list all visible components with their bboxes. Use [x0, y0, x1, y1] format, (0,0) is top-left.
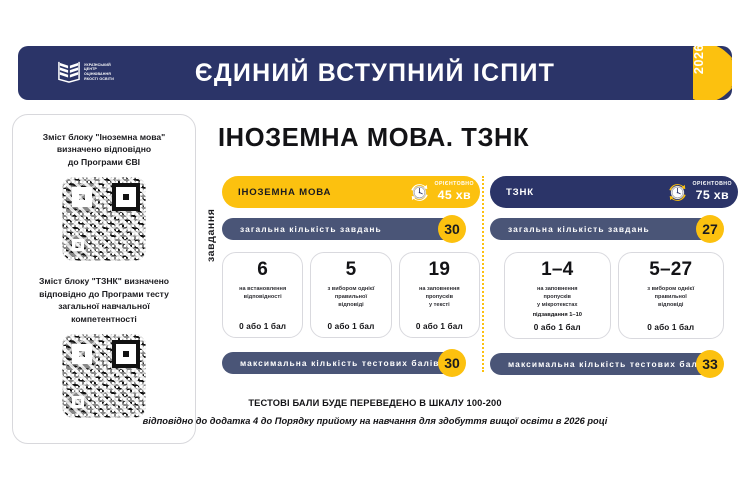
total-tasks-label: загальна кількість завдань: [508, 224, 650, 234]
footer-regulation-note: відповідно до додатка 4 до Порядку прийо…: [0, 416, 750, 426]
max-score-value: 33: [696, 350, 724, 378]
task-card-description-text: на заповнення пропусків у мікротекстах: [537, 286, 578, 308]
task-card-score: 0 або 1 бал: [327, 322, 374, 331]
max-score-label: максимальна кількість тестових балів: [240, 358, 440, 368]
footer-scale-note: ТЕСТОВІ БАЛИ БУДЕ ПЕРЕВЕДЕНО В ШКАЛУ 100…: [0, 398, 750, 408]
task-card: 19 на заповнення пропусків у тексті 0 аб…: [399, 252, 480, 338]
task-card-score: 0 або 1 бал: [534, 323, 581, 332]
duration-value: 75 хв: [693, 189, 732, 201]
duration-texts: ОРІЄНТОВНО 75 хв: [693, 182, 732, 201]
task-card-number: 5–27: [649, 260, 692, 280]
duration-texts: ОРІЄНТОВНО 45 хв: [435, 182, 474, 201]
qr-pattern: [62, 177, 146, 261]
total-tasks-bar-tznk: загальна кількість завдань 27: [490, 218, 738, 240]
stopwatch-icon: [666, 181, 689, 204]
task-card-description: з вибором однієї правильної відповіді: [327, 285, 374, 318]
tasks-axis-label: завдання: [205, 209, 217, 263]
task-card-description: з вибором однієї правильної відповіді: [647, 285, 694, 319]
duration-value: 45 хв: [435, 189, 474, 201]
total-tasks-track: загальна кількість завдань: [490, 218, 712, 240]
max-score-value: 30: [438, 349, 466, 377]
task-card-number: 6: [257, 260, 268, 280]
open-book-icon: [58, 60, 80, 84]
duration-group: ОРІЄНТОВНО 45 хв: [408, 181, 474, 204]
total-tasks-track: загальна кількість завдань: [222, 218, 454, 240]
task-card: 6 на встановлення відповідності 0 або 1 …: [222, 252, 303, 338]
task-card-subtasks: підзавдання 1–10: [533, 311, 582, 319]
subject-pill-foreign-language: ІНОЗЕМНА МОВА ОРІЄНТОВНО 45 хв: [222, 176, 480, 208]
task-card-number: 5: [346, 260, 357, 280]
ucoqe-logo: УКРАЇНСЬКИЙ ЦЕНТР ОЦІНЮВАННЯ ЯКОСТІ ОСВІ…: [58, 60, 114, 84]
column-foreign-language: ІНОЗЕМНА МОВА ОРІЄНТОВНО 45 хв: [222, 176, 480, 374]
task-cards-foreign-language: 6 на встановлення відповідності 0 або 1 …: [222, 252, 480, 338]
max-score-label: максимальна кількість тестових балів: [508, 359, 708, 369]
total-tasks-value: 27: [696, 215, 724, 243]
column-divider: [482, 176, 484, 372]
task-card-score: 0 або 1 бал: [239, 322, 286, 331]
max-score-track: максимальна кількість тестових балів: [222, 352, 454, 374]
sidebar-panel: Зміст блоку "Іноземна мова" визначено ві…: [12, 114, 196, 444]
subject-pill-label: ТЗНК: [506, 187, 666, 198]
sidebar-text-0: Зміст блоку "Іноземна мова" визначено ві…: [43, 131, 166, 168]
max-score-track: максимальна кількість тестових балів: [490, 353, 712, 375]
total-tasks-value: 30: [438, 215, 466, 243]
duration-approx-label: ОРІЄНТОВНО: [693, 182, 732, 187]
header: ЄДИНИЙ ВСТУПНИЙ ІСПИТ УКРАЇНСЬКИЙ ЦЕНТР …: [18, 46, 732, 100]
subject-pill-label: ІНОЗЕМНА МОВА: [238, 187, 408, 198]
task-card-number: 1–4: [541, 260, 573, 280]
qr-code-icon-0[interactable]: [62, 177, 146, 261]
column-tznk: ТЗНК ОРІЄНТОВНО 75 хв: [490, 176, 738, 375]
task-card: 5–27 з вибором однієї правильної відпові…: [618, 252, 725, 339]
infographic-page: ЄДИНИЙ ВСТУПНИЙ ІСПИТ УКРАЇНСЬКИЙ ЦЕНТР …: [0, 0, 750, 500]
duration-group: ОРІЄНТОВНО 75 хв: [666, 181, 732, 204]
header-title: ЄДИНИЙ ВСТУПНИЙ ІСПИТ: [18, 46, 732, 100]
task-card-score: 0 або 1 бал: [416, 322, 463, 331]
sidebar-text-1: Зміст блоку "ТЗНК" визначено відповідно …: [39, 275, 169, 325]
task-card: 5 з вибором однієї правильної відповіді …: [310, 252, 391, 338]
logo-text: УКРАЇНСЬКИЙ ЦЕНТР ОЦІНЮВАННЯ ЯКОСТІ ОСВІ…: [84, 63, 114, 82]
total-tasks-label: загальна кількість завдань: [240, 224, 382, 234]
header-bar: ЄДИНИЙ ВСТУПНИЙ ІСПИТ УКРАЇНСЬКИЙ ЦЕНТР …: [18, 46, 732, 100]
task-cards-tznk: 1–4 на заповнення пропусків у мікротекст…: [490, 252, 738, 339]
max-score-bar-foreign-language: максимальна кількість тестових балів 30: [222, 352, 480, 374]
page-title: ІНОЗЕМНА МОВА. ТЗНК: [218, 124, 529, 153]
total-tasks-bar-foreign-language: загальна кількість завдань 30: [222, 218, 480, 240]
task-card-number: 19: [429, 260, 451, 280]
task-card: 1–4 на заповнення пропусків у мікротекст…: [504, 252, 611, 339]
task-card-description: на встановлення відповідності: [239, 285, 286, 318]
duration-approx-label: ОРІЄНТОВНО: [435, 182, 474, 187]
max-score-bar-tznk: максимальна кількість тестових балів 33: [490, 353, 738, 375]
task-card-score: 0 або 1 бал: [647, 323, 694, 332]
subject-pill-tznk: ТЗНК ОРІЄНТОВНО 75 хв: [490, 176, 738, 208]
task-card-description: на заповнення пропусків у мікротекстахпі…: [533, 285, 582, 319]
stopwatch-icon: [408, 181, 431, 204]
task-card-description: на заповнення пропусків у тексті: [419, 285, 460, 318]
